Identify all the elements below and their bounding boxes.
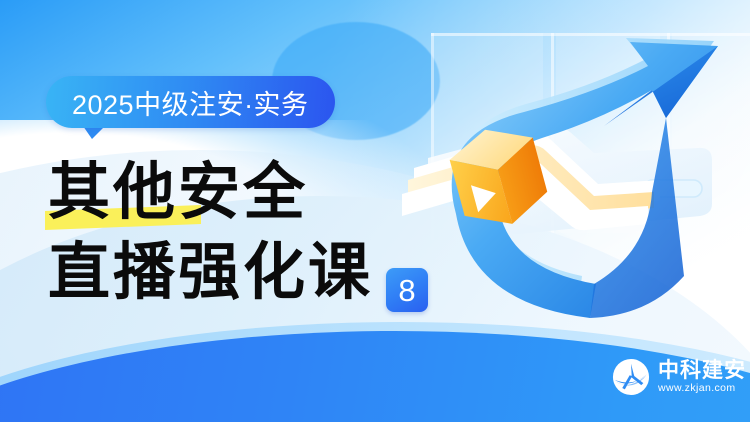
episode-badge: 8 [386,268,428,312]
brand-logo-text: 中科建安 www.zkjan.com [658,359,746,395]
course-category-label: 2025中级注安·实务 [72,83,309,122]
episode-number: 8 [398,275,415,306]
course-banner: 2025中级注安·实务 其他安全 直播强化课 8 中科建安 www.zkjan.… [0,0,750,422]
brand-logo[interactable]: 中科建安 www.zkjan.com [612,358,746,396]
brand-name: 中科建安 [658,359,746,382]
headline-line-2: 直播强化课 [48,236,373,308]
zkjan-logo-icon [612,358,650,396]
course-category-pill[interactable]: 2025中级注安·实务 [46,76,335,128]
headline-line-1: 其他安全 [48,156,308,228]
brand-url: www.zkjan.com [658,382,746,395]
headline-row-1: 其他安全 [48,152,468,232]
